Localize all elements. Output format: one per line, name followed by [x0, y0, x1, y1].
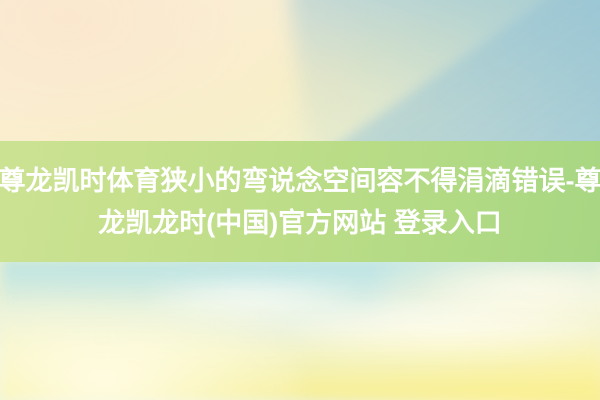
promo-banner: 尊龙凯时体育狭小的弯说念空间容不得涓滴错误-尊 龙凯龙时(中国)官方网站 登录入…: [0, 0, 600, 400]
banner-title-line-2: 龙凯龙时(中国)官方网站 登录入口: [98, 203, 501, 243]
background-bottom-wash: [0, 300, 300, 400]
title-band: 尊龙凯时体育狭小的弯说念空间容不得涓滴错误-尊 龙凯龙时(中国)官方网站 登录入…: [0, 141, 600, 262]
banner-title-line-1: 尊龙凯时体育狭小的弯说念空间容不得涓滴错误-尊: [0, 161, 600, 201]
